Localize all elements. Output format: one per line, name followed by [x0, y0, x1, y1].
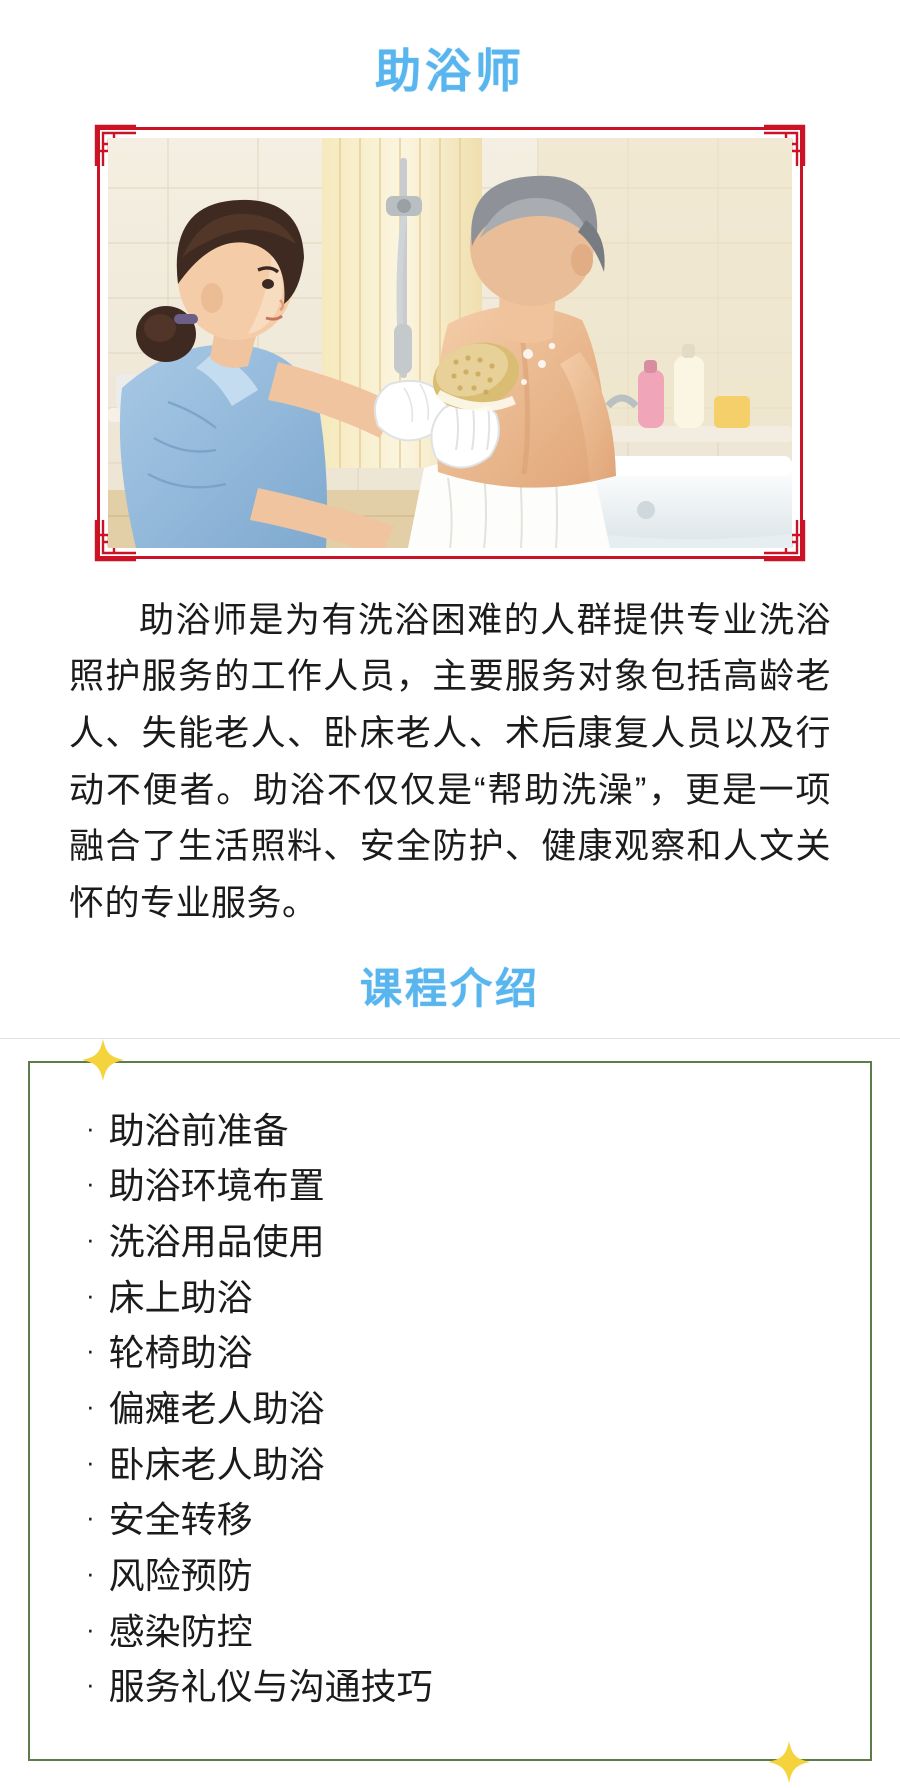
- list-item-label: 服务礼仪与沟通技巧: [109, 1662, 433, 1712]
- bullet-icon: ·: [86, 1393, 95, 1419]
- list-item[interactable]: · 风险预防: [86, 1548, 870, 1604]
- bullet-icon: ·: [86, 1616, 95, 1642]
- list-item-label: 风险预防: [109, 1551, 253, 1601]
- course-list: · 助浴前准备 · 助浴环境布置 · 洗浴用品使用 · 床上助浴 · 轮椅助浴 …: [30, 1103, 870, 1715]
- bullet-icon: ·: [86, 1337, 95, 1363]
- list-item-label: 洗浴用品使用: [109, 1217, 325, 1267]
- list-item-label: 感染防控: [109, 1607, 253, 1657]
- bullet-icon: ·: [86, 1449, 95, 1475]
- curriculum-box: · 助浴前准备 · 助浴环境布置 · 洗浴用品使用 · 床上助浴 · 轮椅助浴 …: [28, 1061, 872, 1761]
- illustration-figure: [97, 127, 803, 559]
- bullet-icon: ·: [86, 1282, 95, 1308]
- list-item[interactable]: · 轮椅助浴: [86, 1325, 870, 1381]
- list-item[interactable]: · 床上助浴: [86, 1270, 870, 1326]
- list-item[interactable]: · 助浴前准备: [86, 1103, 870, 1159]
- sparkle-icon: [766, 1739, 812, 1785]
- bullet-icon: ·: [86, 1170, 95, 1196]
- list-item-label: 助浴环境布置: [109, 1161, 325, 1211]
- bullet-icon: ·: [86, 1671, 95, 1697]
- list-item[interactable]: · 洗浴用品使用: [86, 1214, 870, 1270]
- bullet-icon: ·: [86, 1504, 95, 1530]
- sparkle-icon: [80, 1037, 126, 1083]
- list-item[interactable]: · 安全转移: [86, 1492, 870, 1548]
- list-item[interactable]: · 卧床老人助浴: [86, 1437, 870, 1493]
- list-item[interactable]: · 感染防控: [86, 1604, 870, 1660]
- intro-paragraph: 助浴师是为有洗浴困难的人群提供专业洗浴照护服务的工作人员，主要服务对象包括高龄老…: [69, 593, 831, 933]
- list-item-label: 卧床老人助浴: [109, 1440, 325, 1490]
- section-title-curriculum: 课程介绍: [0, 955, 900, 1016]
- list-item[interactable]: · 偏瘫老人助浴: [86, 1381, 870, 1437]
- list-item-label: 助浴前准备: [109, 1106, 289, 1156]
- list-item[interactable]: · 服务礼仪与沟通技巧: [86, 1659, 870, 1715]
- bullet-icon: ·: [86, 1115, 95, 1141]
- bathing-assistance-illustration: [108, 138, 792, 548]
- list-item-label: 床上助浴: [109, 1273, 253, 1323]
- list-item[interactable]: · 助浴环境布置: [86, 1158, 870, 1214]
- list-item-label: 轮椅助浴: [109, 1328, 253, 1378]
- list-item-label: 安全转移: [109, 1495, 253, 1545]
- list-item-label: 偏瘫老人助浴: [109, 1384, 325, 1434]
- page-title: 助浴师: [0, 0, 900, 97]
- bullet-icon: ·: [86, 1226, 95, 1252]
- bullet-icon: ·: [86, 1560, 95, 1586]
- section-divider: [0, 1038, 900, 1039]
- curriculum-section: · 助浴前准备 · 助浴环境布置 · 洗浴用品使用 · 床上助浴 · 轮椅助浴 …: [28, 1061, 872, 1761]
